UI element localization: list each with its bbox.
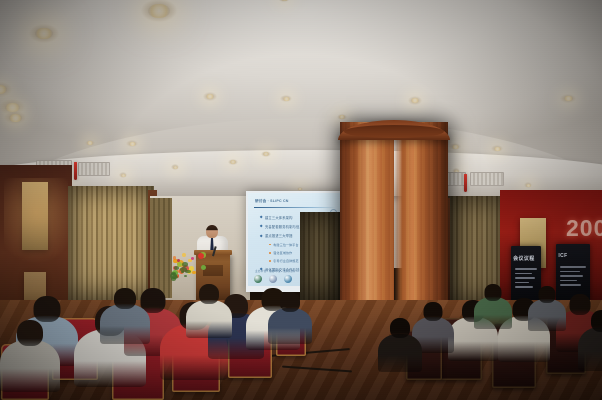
downlight-rim <box>203 92 216 100</box>
slide-title-rule <box>254 207 336 208</box>
downlight-rim <box>4 111 26 125</box>
slide-bullet-text: 建立三大体系架构 <box>265 215 293 220</box>
bullet-marker-icon <box>260 234 263 237</box>
attendee-head <box>34 296 61 322</box>
banner-year-text: 2007 <box>566 215 602 242</box>
attendee-torso <box>186 300 232 338</box>
ceiling-downlight <box>35 28 53 39</box>
bullet-marker-icon <box>269 260 271 262</box>
attendee <box>0 320 60 398</box>
partner-logo-3 <box>284 275 292 283</box>
ceiling-downlight <box>173 166 178 169</box>
ceiling-downlight <box>9 114 22 122</box>
floral-arrangement <box>168 252 206 280</box>
attendee-torso <box>0 340 60 392</box>
bullet-marker-icon <box>269 252 271 254</box>
downlight-rim <box>85 140 95 146</box>
ceiling-downlight <box>452 145 459 149</box>
attendee-torso <box>578 327 602 371</box>
downlight-rim <box>29 24 59 43</box>
attendee-torso <box>378 334 422 372</box>
airflow-ribbon <box>74 162 77 180</box>
wall-uplight-glow-left <box>4 178 68 298</box>
attendee-torso <box>474 297 512 329</box>
slide-bullet-text: 强化区域协作 <box>273 251 292 255</box>
curtain-right-far <box>300 212 342 304</box>
ceiling-downlight <box>206 94 214 99</box>
stage-curtain <box>150 198 172 298</box>
bullet-marker-icon <box>269 244 271 246</box>
slide-bullet-text: 重点推进三大举措 <box>265 233 293 238</box>
ceiling-downlight <box>411 98 419 103</box>
flower-blossom <box>177 259 180 262</box>
ceiling-downlight <box>526 184 531 187</box>
downlight-rim <box>228 159 238 165</box>
ceiling-downlight <box>148 4 170 18</box>
partner-logo-2 <box>269 275 277 283</box>
bullet-marker-icon <box>260 216 263 219</box>
flower-blossom <box>191 257 194 260</box>
ceiling-downlight <box>283 97 290 101</box>
ceiling-downlight <box>564 96 573 102</box>
ceiling-downlight <box>87 141 93 145</box>
flower-blossom <box>173 256 177 260</box>
flower-blossom <box>182 253 186 257</box>
foliage-leaf <box>181 271 185 274</box>
banner-heading: ICF <box>558 253 567 259</box>
slide-footer: 主办单位 · 协办单位 · 支持机构 <box>255 269 295 273</box>
ceiling-downlight <box>339 115 345 119</box>
ceiling-downlight <box>494 147 501 151</box>
foliage-leaf <box>170 273 178 278</box>
air-vent <box>470 172 504 186</box>
conference-room-photo: 研讨会 · SLiPC CN 建立三大体系架构完善配套服务机制与信息化建设重点推… <box>0 0 602 400</box>
attendee-head <box>280 292 300 312</box>
flower-blossom <box>192 271 195 274</box>
air-vent <box>78 162 110 176</box>
attendee <box>474 284 512 333</box>
downlight-rim <box>261 151 271 157</box>
slide-title: 研讨会 · SLiPC CN <box>255 199 289 204</box>
column-top-face <box>344 125 444 138</box>
attendee-head <box>591 310 602 332</box>
flower-blossom <box>198 253 204 259</box>
ceiling-downlight <box>281 0 288 1</box>
downlight-rim <box>408 96 421 104</box>
downlight-rim <box>560 94 575 103</box>
attendee <box>378 318 422 376</box>
attendee-torso <box>100 304 150 344</box>
attendee <box>268 292 312 348</box>
ceiling-downlight <box>230 160 236 164</box>
ceiling-downlight <box>263 152 269 156</box>
downlight-rim <box>337 114 347 120</box>
attendee-head <box>199 284 219 304</box>
bullet-marker-icon <box>260 225 263 228</box>
attendee-head <box>114 288 136 309</box>
slide-bullet-text: 构建三位一体平台 <box>273 243 298 247</box>
banner-heading: 会议议程 <box>513 255 535 262</box>
ceiling-downlight <box>0 85 7 94</box>
downlight-rim <box>119 172 127 177</box>
attendee-head <box>424 302 443 321</box>
slide-bullet-text: 引导行业自律规范 <box>273 259 298 263</box>
airflow-ribbon <box>464 174 467 192</box>
foliage-leaf <box>182 262 188 266</box>
attendee <box>100 288 150 349</box>
attendee-head <box>390 318 410 338</box>
attendee <box>578 310 602 376</box>
flower-blossom <box>201 265 206 270</box>
attendee <box>528 286 566 335</box>
ceiling-downlight <box>121 174 126 177</box>
ceiling-downlight <box>129 142 136 146</box>
attendee <box>186 284 232 342</box>
partner-logo-1 <box>254 275 262 283</box>
attendee-torso <box>268 308 312 344</box>
foliage-leaf <box>174 266 179 270</box>
downlight-rim <box>524 182 532 187</box>
attendee-head <box>485 284 502 301</box>
presenter-head <box>206 225 218 238</box>
downlight-rim <box>171 164 179 169</box>
attendee-torso <box>528 299 566 331</box>
foliage-leaf <box>184 275 187 277</box>
attendee-head <box>17 320 43 346</box>
attendee-head <box>539 286 556 303</box>
